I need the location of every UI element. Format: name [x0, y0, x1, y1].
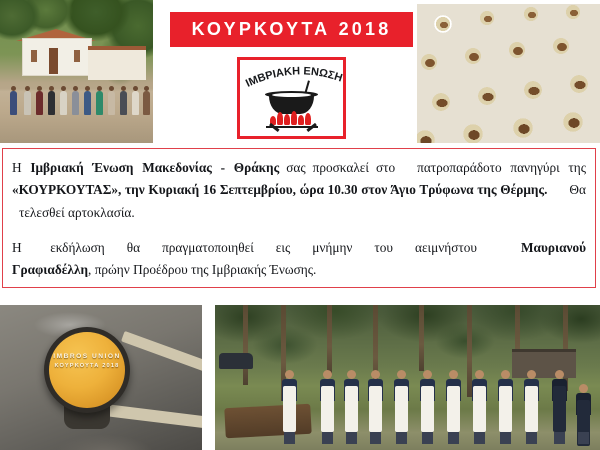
- logo-inner: ΙΜΒΡΙΑΚΗ ΕΝΩΣΗ: [240, 60, 343, 136]
- event-poster: ΚΟΥΡΚΟΥΤΑ 2018 ΙΜΒΡΙΑΚΗ ΕΝΩΣΗ: [0, 0, 600, 450]
- title-banner-text: ΚΟΥΡΚΟΥΤΑ 2018: [192, 19, 392, 40]
- wooden-plank: [121, 331, 202, 374]
- volunteer-person: [551, 370, 568, 444]
- logo-arc-text-label: ΙΜΒΡΙΑΚΗ ΕΝΩΣΗ: [244, 65, 343, 89]
- p1-t8: τελεσθεί αρτοκλασία.: [19, 205, 135, 220]
- p2-t1: Η εκδήλωση: [12, 240, 105, 255]
- pot-contents: [49, 332, 125, 408]
- logo-ground-line: [266, 126, 318, 128]
- overlay-line-2: ΚΟΥΡΚΟΥΤΑ 2018: [44, 363, 130, 369]
- volunteer-person: [575, 384, 592, 444]
- cooking-cauldron-photo: IMBROS UNION ΚΟΥΡΚΟΥΤΑ 2018: [0, 305, 202, 450]
- poster-header: ΚΟΥΡΚΟΥΤΑ 2018 ΙΜΒΡΙΑΚΗ ΕΝΩΣΗ: [0, 0, 600, 145]
- chopping-block: [224, 404, 311, 438]
- p1-t5: πατροπαράδοτο: [417, 160, 502, 175]
- dancer-figure: [36, 91, 43, 115]
- logo-arc-text-svg: ΙΜΒΡΙΑΚΗ ΕΝΩΣΗ: [240, 65, 343, 91]
- p1-b2: «ΚΟΥΡΚΟΥΤΑΣ», την Κυριακή 16 Σεπτεμβρίου…: [12, 182, 547, 197]
- dancer-figure: [120, 91, 127, 115]
- imvriaki-enosi-logo: ΙΜΒΡΙΑΚΗ ΕΝΩΣΗ: [237, 57, 346, 139]
- cauldron-rim: [265, 91, 318, 98]
- dancer-figure: [84, 91, 91, 115]
- volunteer-person: [523, 370, 540, 444]
- parked-car: [219, 353, 253, 369]
- chapel-window-left: [31, 50, 37, 62]
- p2-t4: εις: [276, 240, 290, 255]
- p1-t4: στο: [376, 160, 395, 175]
- announcement-paragraph-2: Η εκδήλωσηθαπραγματοποιηθείειςμνήμηντουα…: [12, 237, 586, 282]
- dancer-figure: [96, 91, 103, 115]
- cooking-pot: IMBROS UNION ΚΟΥΡΚΟΥΤΑ 2018: [44, 327, 130, 413]
- chapel-door: [49, 48, 58, 74]
- dancer-figure: [72, 91, 79, 115]
- chapel-window-right: [74, 50, 80, 62]
- volunteer-person: [393, 370, 410, 444]
- announcement-text-box: Η Ιμβριακή Ένωση Μακεδονίας - Θράκηςσαςπ…: [2, 148, 596, 288]
- volunteer-person: [419, 370, 436, 444]
- p2-t7: αειμνήστου: [415, 240, 477, 255]
- dancer-figure: [60, 91, 67, 115]
- p1-t6: πανηγύρι της: [510, 160, 586, 175]
- dancer-figure: [132, 91, 139, 115]
- p1-t3: προσκαλεί: [313, 160, 369, 175]
- dancer-figure: [108, 91, 115, 115]
- volunteers-group-photo: [215, 305, 600, 450]
- volunteer-person: [497, 370, 514, 444]
- p2-t2: θα: [127, 240, 140, 255]
- announcement-paragraph-1: Η Ιμβριακή Ένωση Μακεδονίας - Θράκηςσαςπ…: [12, 157, 586, 224]
- volunteer-person: [319, 370, 336, 444]
- volunteer-person: [471, 370, 488, 444]
- volunteer-person: [367, 370, 384, 444]
- kourkouta-bowls-photo: [417, 4, 600, 143]
- p2-t3: πραγματοποιηθεί: [162, 240, 254, 255]
- tree-trunk: [327, 305, 332, 375]
- volunteer-person: [343, 370, 360, 444]
- p1-t7: Θα: [569, 182, 586, 197]
- p2-t8: , πρώην Προέδρου της Ιμβριακής Ένωσης.: [88, 262, 316, 277]
- title-banner: ΚΟΥΡΚΟΥΤΑ 2018: [170, 12, 413, 47]
- dancer-figure: [10, 91, 17, 115]
- tree-trunk: [419, 305, 424, 371]
- dancer-figure: [143, 91, 150, 115]
- dancer-figure: [24, 91, 31, 115]
- p2-t6: του: [374, 240, 393, 255]
- tree-trunk: [243, 305, 248, 385]
- fire-icon: [268, 110, 315, 125]
- chapel-annex: [88, 46, 146, 80]
- p1-t1: Η: [12, 160, 30, 175]
- pot-overlay-text: IMBROS UNION ΚΟΥΡΚΟΥΤΑ 2018: [44, 353, 130, 369]
- volunteer-person: [281, 370, 298, 444]
- p1-b1: Ιμβριακή Ένωση Μακεδονίας - Θράκης: [30, 160, 279, 175]
- volunteer-person: [445, 370, 462, 444]
- p1-t2: σας: [286, 160, 305, 175]
- overlay-line-1: IMBROS UNION: [44, 353, 130, 360]
- p2-t5: μνήμην: [312, 240, 352, 255]
- chapel-dancers-photo: [0, 0, 153, 143]
- dancer-figure: [48, 91, 55, 115]
- bowls-meat-layer: [417, 4, 600, 143]
